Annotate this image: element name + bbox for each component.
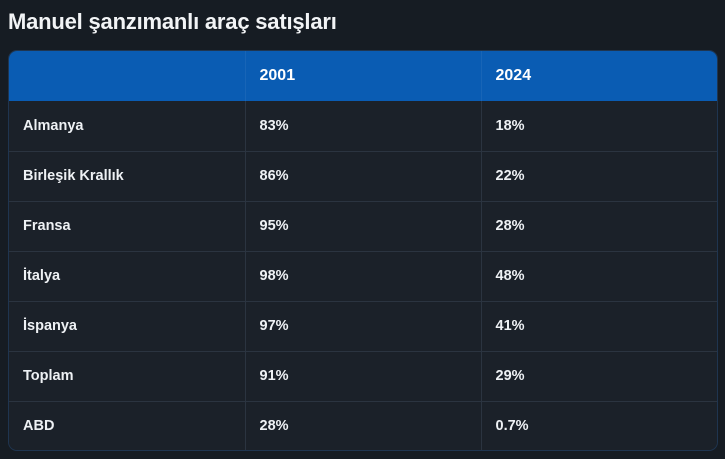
table-header: 2001 2024	[9, 51, 717, 101]
table-body: Almanya 83% 18% Birleşik Krallık 86% 22%…	[9, 101, 717, 451]
cell-birlesik-krallik-2001: 86%	[245, 151, 481, 201]
row-label-fransa: Fransa	[9, 201, 245, 251]
table-row: Fransa 95% 28%	[9, 201, 717, 251]
table-row: ABD 28% 0.7%	[9, 401, 717, 451]
table-header-row: 2001 2024	[9, 51, 717, 101]
cell-almanya-2001: 83%	[245, 101, 481, 151]
cell-ispanya-2001: 97%	[245, 301, 481, 351]
page-root: Manuel şanzımanlı araç satışları 2001 20…	[0, 0, 725, 459]
cell-abd-2001: 28%	[245, 401, 481, 451]
cell-ispanya-2024: 41%	[481, 301, 717, 351]
cell-italya-2024: 48%	[481, 251, 717, 301]
data-table-container: 2001 2024 Almanya 83% 18% Birleşik Krall…	[8, 50, 718, 451]
cell-italya-2001: 98%	[245, 251, 481, 301]
cell-fransa-2001: 95%	[245, 201, 481, 251]
row-label-italya: İtalya	[9, 251, 245, 301]
table-row: Almanya 83% 18%	[9, 101, 717, 151]
row-label-birlesik-krallik: Birleşik Krallık	[9, 151, 245, 201]
table-row: İtalya 98% 48%	[9, 251, 717, 301]
table-row: İspanya 97% 41%	[9, 301, 717, 351]
manual-transmission-sales-table: 2001 2024 Almanya 83% 18% Birleşik Krall…	[9, 51, 717, 451]
cell-toplam-2001: 91%	[245, 351, 481, 401]
row-label-almanya: Almanya	[9, 101, 245, 151]
cell-abd-2024: 0.7%	[481, 401, 717, 451]
cell-fransa-2024: 28%	[481, 201, 717, 251]
column-header-country[interactable]	[9, 51, 245, 101]
column-header-2024[interactable]: 2024	[481, 51, 717, 101]
row-label-toplam: Toplam	[9, 351, 245, 401]
table-row: Toplam 91% 29%	[9, 351, 717, 401]
cell-almanya-2024: 18%	[481, 101, 717, 151]
row-label-abd: ABD	[9, 401, 245, 451]
row-label-ispanya: İspanya	[9, 301, 245, 351]
column-header-2001[interactable]: 2001	[245, 51, 481, 101]
cell-toplam-2024: 29%	[481, 351, 717, 401]
table-row: Birleşik Krallık 86% 22%	[9, 151, 717, 201]
page-title: Manuel şanzımanlı araç satışları	[8, 2, 717, 42]
cell-birlesik-krallik-2024: 22%	[481, 151, 717, 201]
